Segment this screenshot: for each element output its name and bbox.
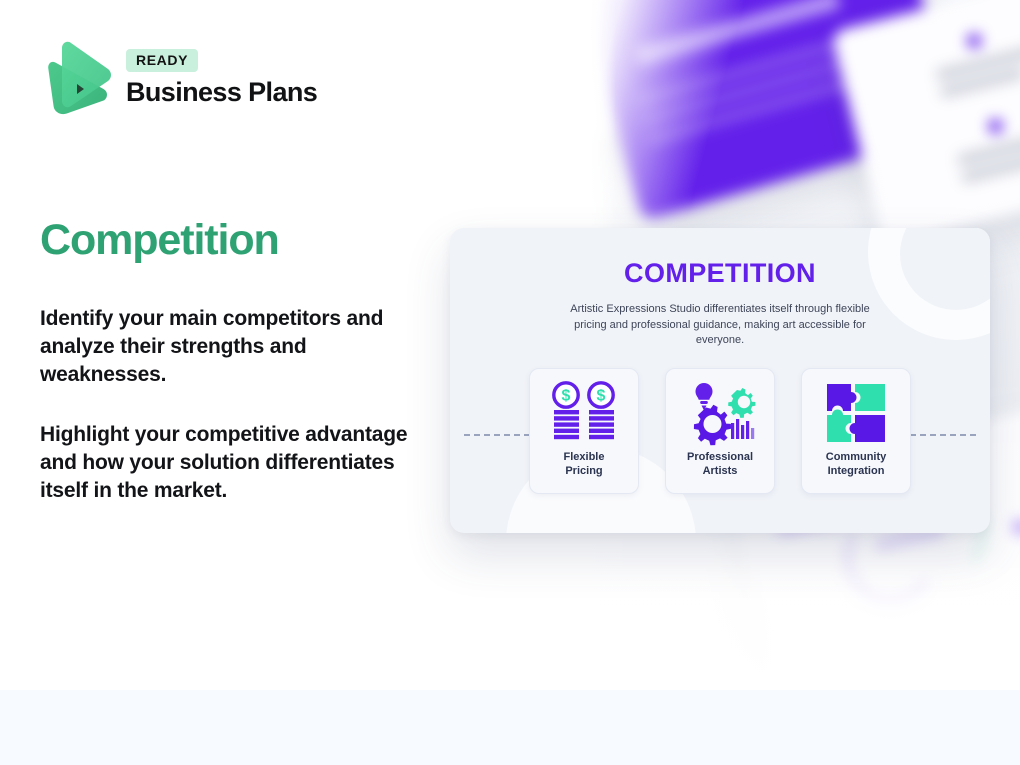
feature-card-community-integration[interactable]: Community Integration [801, 368, 911, 494]
page-title: Competition [40, 216, 279, 265]
play-logo-icon [40, 38, 112, 116]
feature-label-line2: Integration [828, 465, 885, 477]
feature-card-row: $ $ [450, 368, 990, 494]
feature-label-line2: Pricing [565, 465, 602, 477]
ready-badge: READY [126, 49, 198, 72]
feature-card-professional-artists[interactable]: Professional Artists [665, 368, 775, 494]
feature-label: Community Integration [826, 451, 887, 478]
gears-lightbulb-icon [682, 377, 758, 449]
brand-name: Business Plans [126, 77, 317, 108]
slide-preview-page: READY Business Plans Competition Identif… [0, 0, 1020, 765]
feature-card-flexible-pricing[interactable]: $ $ [529, 368, 639, 494]
feature-label: Professional Artists [687, 451, 753, 478]
body-paragraph-2: Highlight your competitive advantage and… [40, 421, 430, 505]
left-body-text: Identify your main competitors and analy… [40, 305, 430, 505]
puzzle-icon [821, 377, 891, 449]
svg-text:$: $ [597, 388, 606, 405]
brand-wordmark: READY Business Plans [126, 47, 317, 108]
footer-strip [0, 690, 1020, 765]
coins-icon: $ $ [547, 377, 621, 449]
svg-text:$: $ [562, 388, 571, 405]
slide-preview-card[interactable]: COMPETITION Artistic Expressions Studio … [450, 228, 990, 533]
brand-logo[interactable]: READY Business Plans [40, 38, 317, 116]
feature-label-line2: Artists [703, 465, 738, 477]
feature-label-line1: Flexible [564, 451, 605, 463]
slide-description: Artistic Expressions Studio differentiat… [570, 302, 870, 349]
body-paragraph-1: Identify your main competitors and analy… [40, 305, 430, 389]
feature-label-line1: Community [826, 451, 887, 463]
feature-label: Flexible Pricing [564, 451, 605, 478]
feature-label-line1: Professional [687, 451, 753, 463]
slide-title: COMPETITION [450, 258, 990, 289]
